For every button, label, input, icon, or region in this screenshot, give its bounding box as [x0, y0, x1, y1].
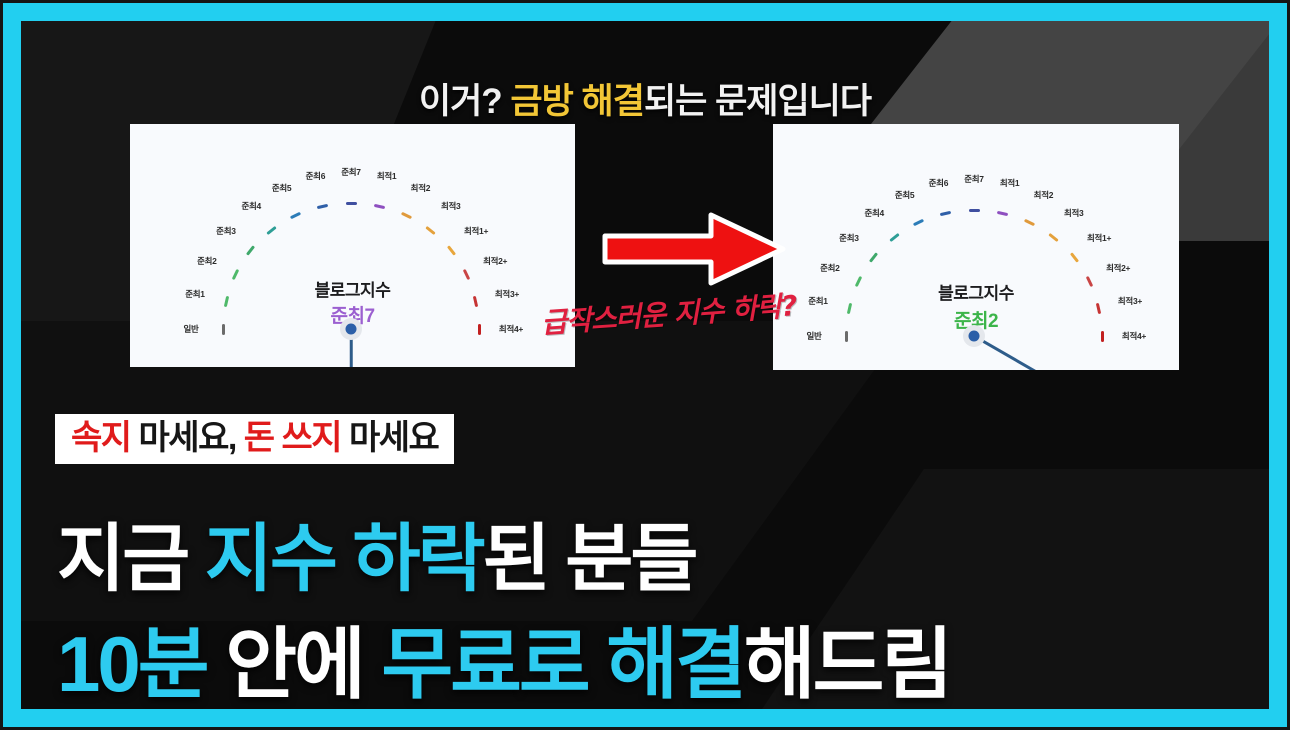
gauge-tick-label: 준최6 — [929, 177, 948, 189]
headline-line-2: 10분 안에 무료로 해결해드림 — [57, 602, 950, 709]
warning-seg-2: 마세요, — [131, 419, 244, 457]
gauge-tick — [222, 324, 225, 335]
gauge-tick — [997, 211, 1008, 216]
gauge-hub — [346, 324, 357, 335]
gauge-tick-label: 최적3+ — [495, 288, 519, 300]
thumbnail-canvas: 이거? 금방 해결되는 문제입니다 블로그지수준최7일반준최1준최2준최3준최4… — [0, 0, 1290, 730]
gauge-tick — [869, 253, 878, 263]
warning-seg-3: 돈 쓰지 — [244, 419, 341, 457]
gauge-tick — [1049, 233, 1059, 242]
headline-2-a: 10분 — [57, 620, 207, 708]
gauge-tick — [446, 246, 455, 256]
gauge-tick-label: 준최3 — [839, 232, 858, 244]
handwritten-note: 급작스러운 지수 하락? — [540, 284, 798, 342]
gauge-tick-label: 최적2 — [1034, 189, 1053, 201]
gauge-tick — [426, 226, 436, 235]
gauge-tick-label: 일반 — [806, 330, 821, 342]
gauge-tick-label: 준최7 — [964, 173, 983, 185]
gauge-tick-label: 준최7 — [341, 166, 360, 178]
gauge-tick-label: 최적2 — [411, 182, 430, 194]
warning-seg-1: 속지 — [71, 419, 131, 457]
gauge-tick — [374, 204, 385, 209]
red-arrow-icon — [599, 206, 789, 292]
headline-2-e: 해결 — [606, 620, 744, 708]
gauge-tick — [1024, 219, 1035, 226]
gauge-tick-label: 최적1 — [377, 170, 396, 182]
gauge-tick-label: 최적2+ — [483, 255, 507, 267]
warning-box: 속지 마세요, 돈 쓰지 마세요 — [55, 414, 454, 464]
headline-1-c: 된 분들 — [483, 517, 696, 600]
gauge-card-after: 블로그지수준최2일반준최1준최2준최3준최4준최5준최6준최7최적1최적2최적3… — [773, 124, 1179, 370]
gauge-tick-label: 최적4+ — [1122, 330, 1146, 342]
gauge-tick-label: 준최5 — [895, 189, 914, 201]
gauge-tick-label: 준최2 — [820, 262, 839, 274]
gauge-tick-label: 준최1 — [808, 295, 827, 307]
gauge-hub — [969, 331, 980, 342]
warning-seg-4: 마세요 — [341, 419, 438, 457]
gauge-tick — [266, 226, 276, 235]
gauge-tick — [401, 212, 412, 219]
gauge-tick — [317, 204, 328, 209]
gauge-tick-label: 준최4 — [242, 200, 261, 212]
gauge-tick — [346, 202, 357, 205]
gauge-before-inner: 블로그지수준최7일반준최1준최2준최3준최4준최5준최6준최7최적1최적2최적3… — [130, 124, 575, 367]
gauge-tick-label: 최적3+ — [1118, 295, 1142, 307]
red-arrow-svg — [599, 206, 789, 292]
headline-2-d — [588, 620, 607, 708]
headline-1-b: 지수 하락 — [205, 517, 483, 600]
content-stage: 이거? 금방 해결되는 문제입니다 블로그지수준최7일반준최1준최2준최3준최4… — [21, 21, 1269, 709]
gauge-tick — [1069, 253, 1078, 263]
gauge-tick-label: 최적1+ — [1087, 232, 1111, 244]
top-title: 이거? 금방 해결되는 문제입니다 — [21, 73, 1269, 124]
gauge-tick — [478, 324, 481, 335]
gauge-tick-label: 준최4 — [865, 207, 884, 219]
gauge-needle — [973, 335, 1117, 370]
gauge-tick — [913, 219, 924, 226]
gauge-tick-label: 준최2 — [197, 255, 216, 267]
headline-2-f: 해드림 — [744, 620, 950, 708]
gauge-tick-label: 최적2+ — [1106, 262, 1130, 274]
gauge-tick-label: 최적4+ — [499, 323, 523, 335]
gauge-tick — [969, 209, 980, 212]
gauge-tick — [246, 246, 255, 256]
gauge-tick — [889, 233, 899, 242]
top-title-part2: 되는 문제입니다 — [644, 82, 871, 121]
gauge-tick-label: 최적3 — [441, 200, 460, 212]
gauge-tick-label: 준최5 — [272, 182, 291, 194]
headline-2-c: 무료로 — [381, 620, 587, 708]
headline-2-b: 안에 — [207, 620, 382, 708]
gauge-tick-label: 준최6 — [306, 170, 325, 182]
gauge-tick — [940, 211, 951, 216]
gauge-tick-label: 일반 — [183, 323, 198, 335]
gauge-tick — [845, 331, 848, 342]
gauge-tick — [290, 212, 301, 219]
gauge-tick-label: 최적3 — [1064, 207, 1083, 219]
gauge-tick-label: 준최1 — [185, 288, 204, 300]
top-title-highlight: 금방 해결 — [510, 82, 644, 121]
headline-line-1: 지금 지수 하락된 분들 — [57, 499, 695, 606]
gauge-card-before: 블로그지수준최7일반준최1준최2준최3준최4준최5준최6준최7최적1최적2최적3… — [130, 124, 575, 367]
headline-1-a: 지금 — [57, 517, 205, 600]
gauge-after-inner: 블로그지수준최2일반준최1준최2준최3준최4준최5준최6준최7최적1최적2최적3… — [773, 124, 1179, 370]
gauge-tick-label: 준최3 — [216, 225, 235, 237]
gauge-tick-label: 최적1+ — [464, 225, 488, 237]
gauge-tick — [1101, 331, 1104, 342]
top-title-part1: 이거? — [419, 82, 511, 121]
gauge-tick-label: 최적1 — [1000, 177, 1019, 189]
